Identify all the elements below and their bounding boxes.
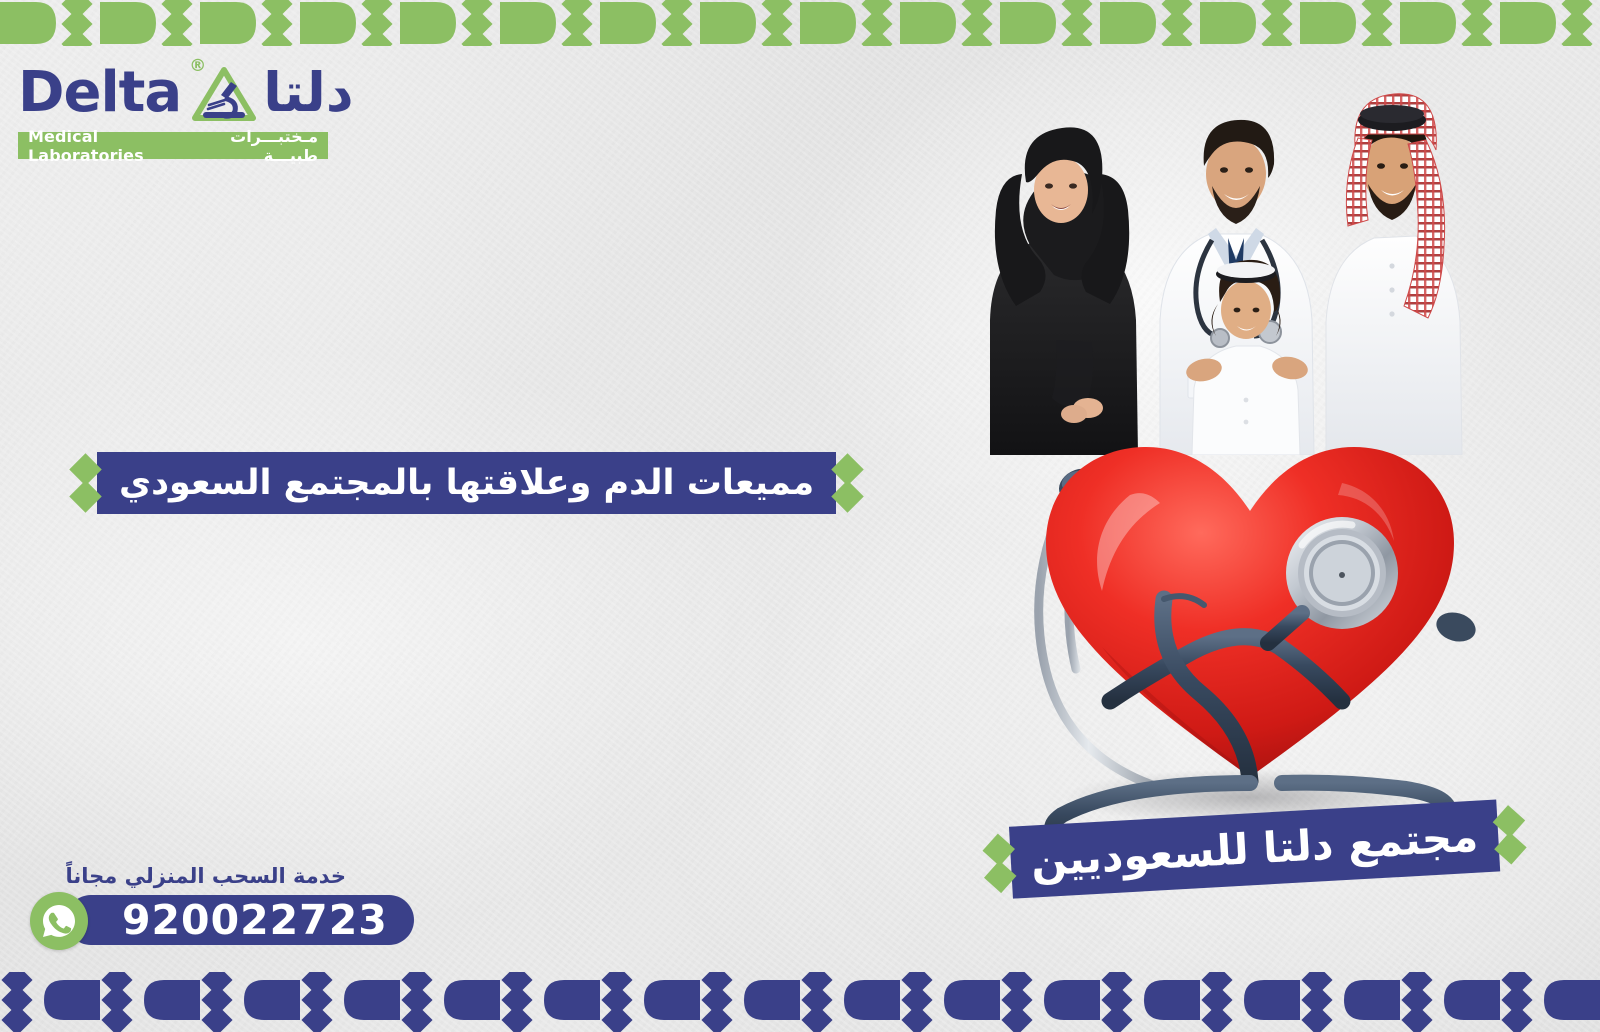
heart-illustration: [950, 385, 1510, 835]
logo-name-ar: دلتا: [263, 66, 353, 120]
bottom-border-pattern-icon: [0, 972, 1600, 1032]
phone-pill[interactable]: 920022723: [66, 895, 414, 945]
whatsapp-icon[interactable]: [30, 892, 88, 950]
bottom-decorative-border: [0, 972, 1600, 1032]
community-right-diamonds-icon: [1497, 809, 1523, 860]
phone-number[interactable]: 920022723: [122, 900, 388, 941]
logo-tagline-en: Medical Laboratories: [28, 127, 192, 165]
whatsapp-glyph[interactable]: [39, 901, 79, 941]
poster-canvas: Delta ® دلتا Medical Laboratories مـختبـ…: [0, 0, 1600, 1032]
logo-name-en: Delta: [18, 65, 181, 121]
diamond-shape: [831, 480, 864, 513]
main-title-banner: مميعات الدم وعلاقتها بالمجتمع السعودي: [74, 452, 859, 514]
logo-tagline-bar: Medical Laboratories مـختبـــرات طبيـــة: [18, 132, 328, 159]
title-band: مميعات الدم وعلاقتها بالمجتمع السعودي: [97, 452, 836, 514]
logo-tagline-ar: مـختبـــرات طبيـــة: [192, 127, 318, 165]
microscope-triangle-icon: ®: [191, 62, 257, 124]
red-heart-with-stethoscope-icon: [950, 385, 1510, 835]
title-right-diamonds-icon: [836, 458, 859, 508]
brand-logo: Delta ® دلتا Medical Laboratories مـختبـ…: [18, 58, 348, 159]
title-left-diamonds-icon: [74, 458, 97, 508]
registered-mark: ®: [189, 56, 206, 76]
diamond-shape: [1494, 832, 1526, 864]
phone-row[interactable]: 920022723: [28, 892, 358, 948]
home-service-caption: خدمة السحب المنزلي مجاناً: [28, 864, 358, 888]
page-title: مميعات الدم وعلاقتها بالمجتمع السعودي: [119, 466, 814, 501]
top-border-pattern-icon: [0, 0, 1600, 46]
logo-wordmark-row: Delta ® دلتا: [18, 58, 348, 128]
contact-block: خدمة السحب المنزلي مجاناً 920022723: [28, 864, 358, 948]
top-decorative-border: [0, 0, 1600, 46]
community-banner-text: مجتمع دلتا للسعوديين: [1030, 816, 1479, 883]
community-left-diamonds-icon: [987, 838, 1013, 889]
